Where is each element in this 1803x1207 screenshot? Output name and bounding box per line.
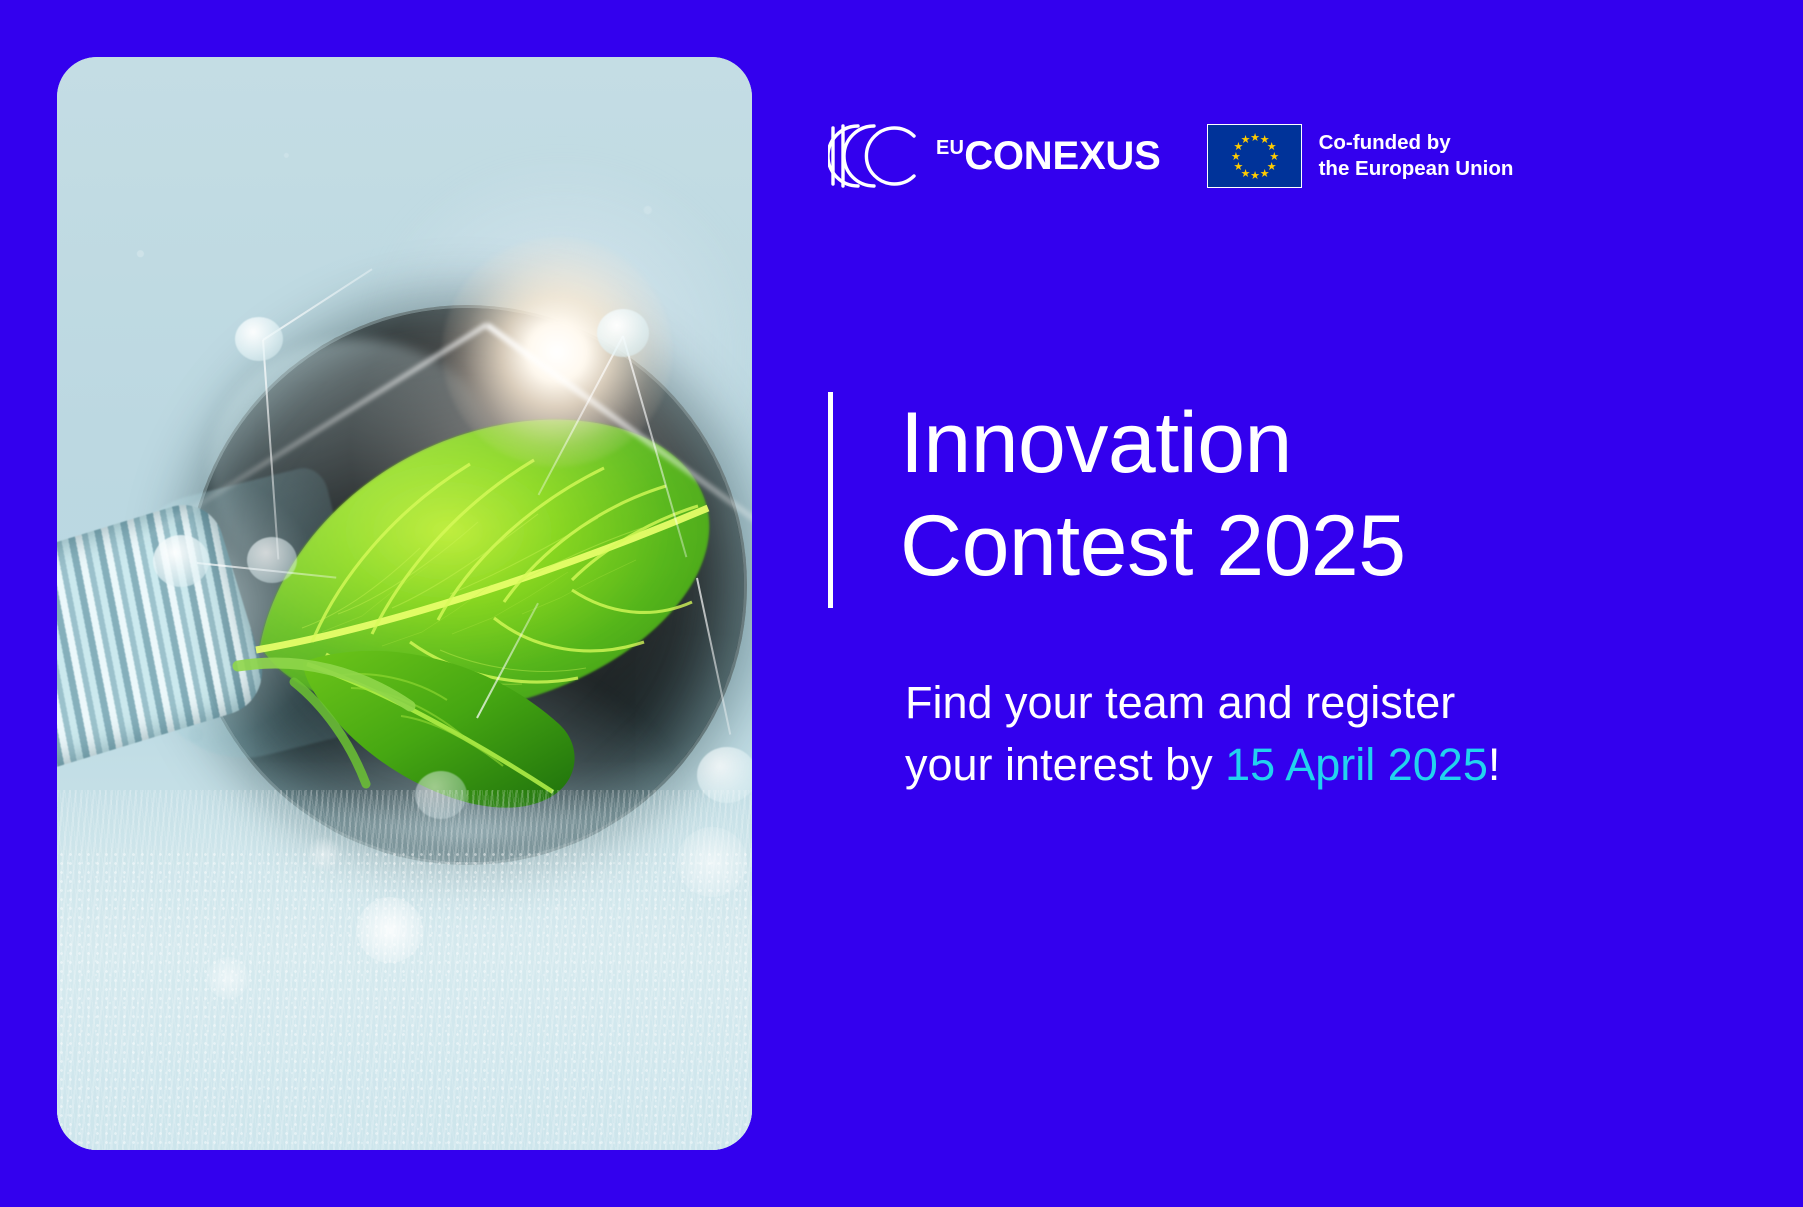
eu-funding-lockup: ★★★★★★★★★★★★ Co-funded by the European U… bbox=[1207, 124, 1514, 188]
eu-conexus-wordmark: EU CONEXUS bbox=[936, 134, 1161, 179]
eu-flag-star: ★ bbox=[1250, 133, 1260, 143]
eu-conexus-logo: EU CONEXUS bbox=[828, 122, 1161, 190]
surface-grain bbox=[57, 850, 752, 1150]
bokeh-circle bbox=[207, 957, 249, 999]
subtitle: Find your team and register your interes… bbox=[905, 672, 1500, 796]
eu-flag-star: ★ bbox=[1231, 152, 1241, 162]
eu-flag-star: ★ bbox=[1250, 171, 1260, 181]
network-node bbox=[247, 537, 297, 583]
network-link bbox=[538, 336, 624, 496]
eu-flag-star: ★ bbox=[1260, 169, 1270, 179]
network-link bbox=[696, 578, 731, 735]
headline-block: Innovation Contest 2025 bbox=[828, 392, 1406, 608]
network-node bbox=[597, 309, 649, 357]
bokeh-circle bbox=[307, 837, 341, 871]
page-title: Innovation Contest 2025 bbox=[900, 392, 1406, 608]
hero-image-panel bbox=[57, 57, 752, 1150]
eu-funding-text: Co-funded by the European Union bbox=[1319, 130, 1514, 182]
subtitle-suffix: ! bbox=[1488, 739, 1501, 790]
european-union-flag-icon: ★★★★★★★★★★★★ bbox=[1207, 124, 1302, 188]
eu-funding-line2: the European Union bbox=[1319, 156, 1514, 182]
eu-flag-star: ★ bbox=[1241, 135, 1251, 145]
network-link bbox=[476, 603, 539, 719]
deadline-date: 15 April 2025 bbox=[1225, 739, 1488, 790]
logo-row: EU CONEXUS ★★★★★★★★★★★★ Co-funded by the… bbox=[828, 122, 1513, 190]
conexus-name: CONEXUS bbox=[964, 134, 1160, 179]
content-column: EU CONEXUS ★★★★★★★★★★★★ Co-funded by the… bbox=[780, 0, 1803, 1207]
headline-line2: Contest 2025 bbox=[900, 495, 1406, 598]
subtitle-prefix: your interest by bbox=[905, 739, 1225, 790]
subtitle-line2: your interest by 15 April 2025! bbox=[905, 734, 1500, 796]
network-node bbox=[153, 535, 209, 587]
subtitle-line1: Find your team and register bbox=[905, 672, 1500, 734]
conexus-arcs-icon bbox=[828, 122, 920, 190]
network-node bbox=[235, 317, 283, 361]
conexus-prefix: EU bbox=[936, 137, 964, 160]
headline-line1: Innovation bbox=[900, 392, 1406, 495]
headline-accent-rule bbox=[828, 392, 833, 608]
bokeh-circle bbox=[677, 827, 747, 897]
network-link bbox=[262, 340, 279, 560]
eu-flag-star: ★ bbox=[1233, 162, 1243, 172]
bokeh-circle bbox=[357, 897, 423, 963]
eu-funding-line1: Co-funded by bbox=[1319, 130, 1514, 156]
network-link bbox=[622, 336, 687, 558]
